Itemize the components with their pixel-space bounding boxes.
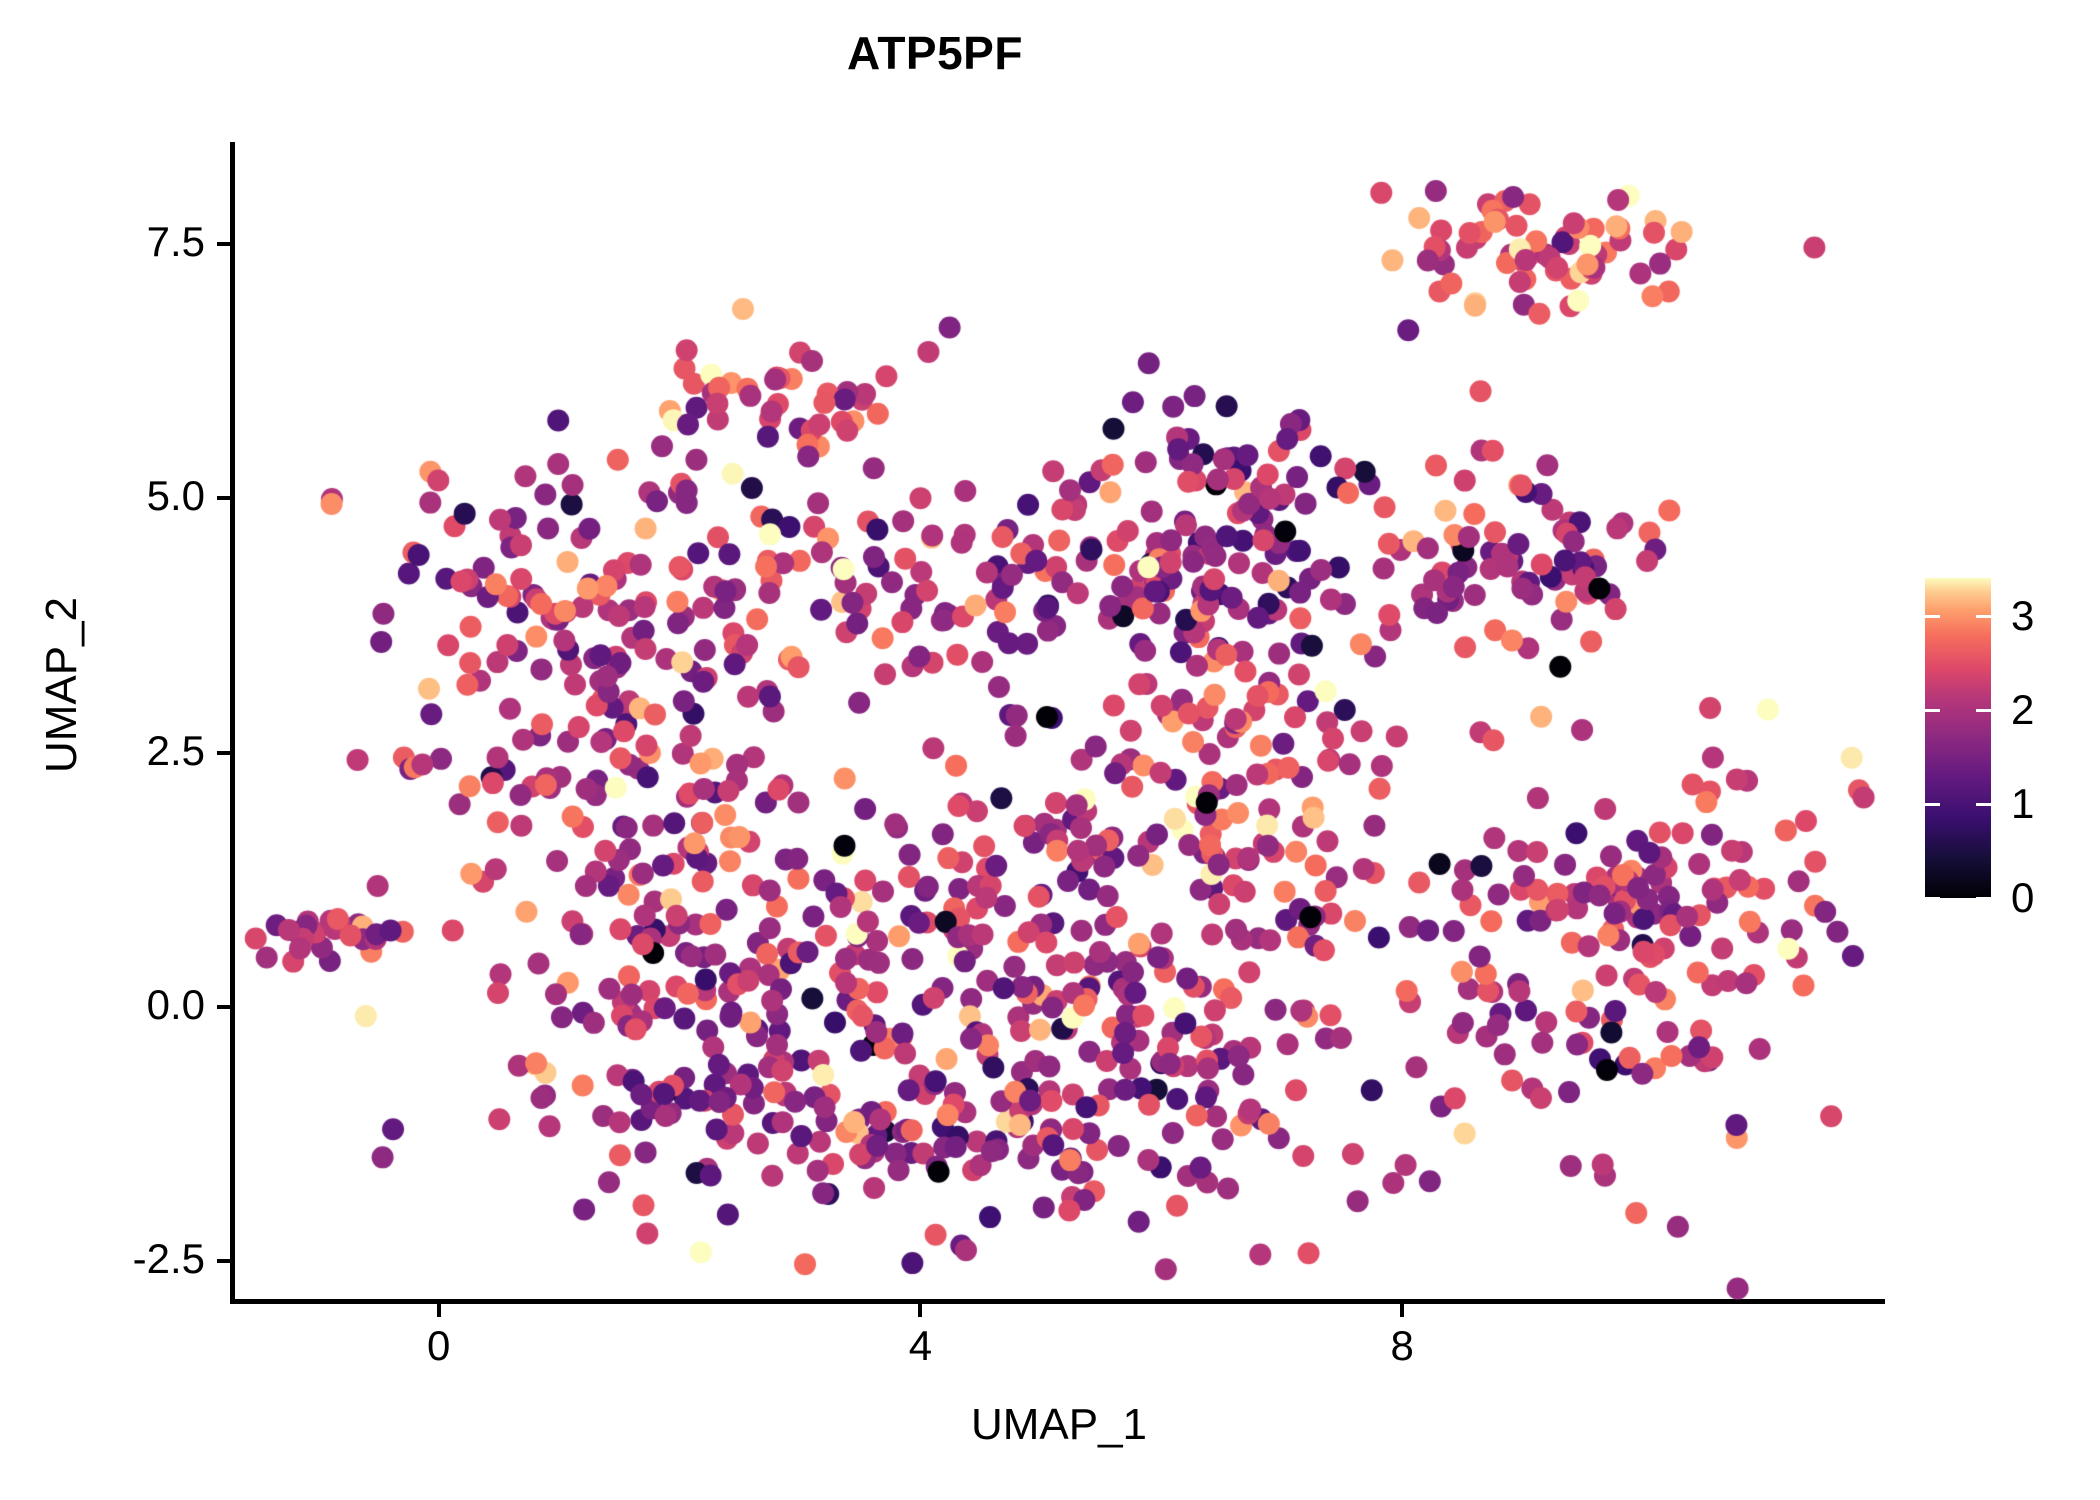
y-tick-mark [217, 1259, 231, 1263]
figure-root: ATP5PF UMAP_2 UMAP_1 -2.50.02.55.07.5 04… [0, 0, 2100, 1500]
y-tick-mark [217, 751, 231, 755]
x-tick-label: 0 [379, 1322, 499, 1370]
y-tick-mark [217, 496, 231, 500]
y-tick-label: 5.0 [5, 472, 205, 520]
y-tick-label: 2.5 [5, 727, 205, 775]
y-tick-label: 0.0 [5, 981, 205, 1029]
colorbar-tick-label: 0 [2011, 874, 2034, 922]
page-title: ATP5PF [0, 26, 1870, 80]
y-tick-mark [217, 1005, 231, 1009]
colorbar-tick-label: 2 [2011, 686, 2034, 734]
colorbar-gradient [1925, 578, 1991, 898]
x-tick-label: 4 [860, 1322, 980, 1370]
y-tick-mark [217, 242, 231, 246]
scatter-points-canvas [234, 142, 1884, 1302]
x-tick-mark [437, 1303, 441, 1317]
colorbar-tick-label: 1 [2011, 780, 2034, 828]
x-tick-mark [1400, 1303, 1404, 1317]
y-tick-label: -2.5 [5, 1235, 205, 1283]
x-tick-label: 8 [1342, 1322, 1462, 1370]
plot-panel [234, 142, 1884, 1302]
colorbar-tick-label: 3 [2011, 592, 2034, 640]
x-tick-mark [918, 1303, 922, 1317]
x-axis-label: UMAP_1 [234, 1400, 1884, 1450]
y-tick-label: 7.5 [5, 218, 205, 266]
